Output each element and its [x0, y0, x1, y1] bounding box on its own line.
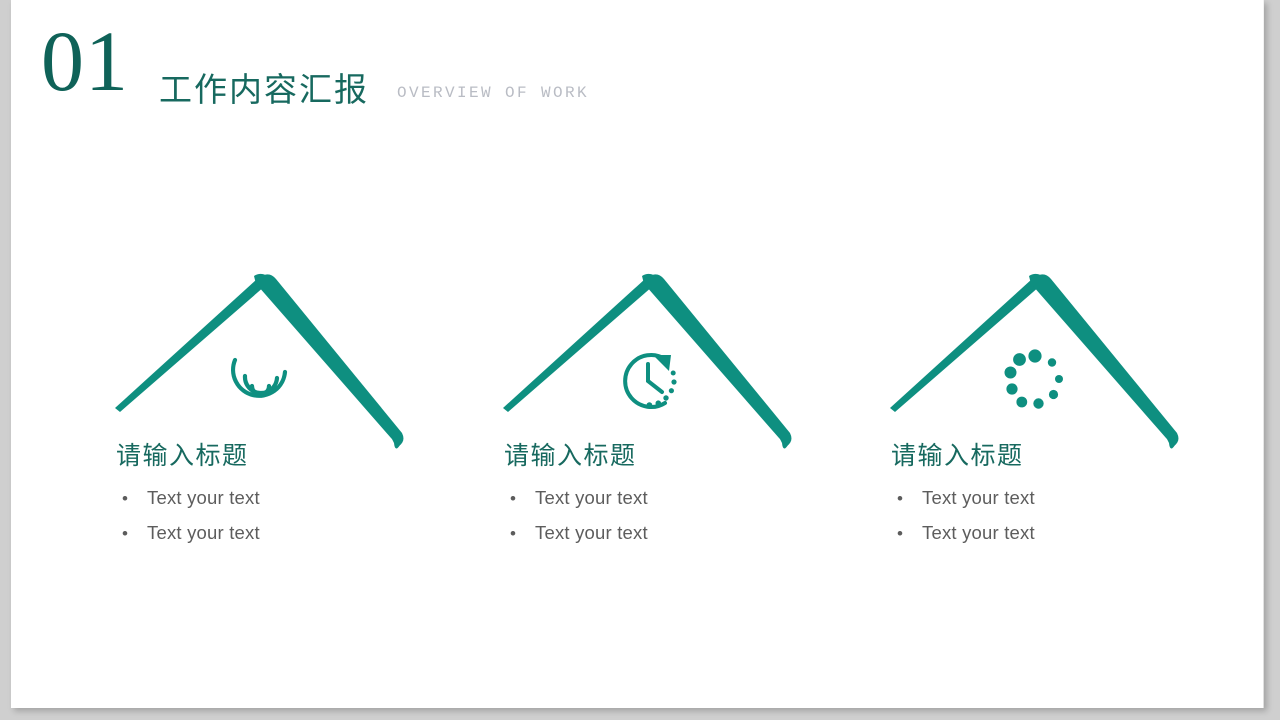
bullet-text: Text your text [535, 487, 648, 509]
column-bullet-list: • Text your text • Text your text [117, 487, 407, 557]
clock-history-icon [596, 341, 700, 421]
list-item[interactable]: • Text your text [892, 487, 1182, 522]
content-column-2[interactable]: 请输入标题 • Text your text • Text your text [483, 265, 813, 565]
bullet-text: Text your text [147, 487, 260, 509]
bullet-text: Text your text [147, 522, 260, 544]
column-bullet-list: • Text your text • Text your text [505, 487, 795, 557]
column-title: 请输入标题 [116, 443, 249, 471]
bullet-text: Text your text [922, 522, 1035, 544]
list-item[interactable]: • Text your text [117, 487, 407, 522]
slide-right-edge-rule [1263, 0, 1264, 708]
bullet-marker: • [117, 524, 147, 544]
bullet-marker: • [505, 489, 535, 509]
content-columns: 请输入标题 • Text your text • Text your text [11, 0, 1264, 708]
list-item[interactable]: • Text your text [892, 522, 1182, 557]
list-item[interactable]: • Text your text [117, 522, 407, 557]
ripple-arcs-icon [208, 341, 312, 421]
content-column-3[interactable]: 请输入标题 • Text your text • Text your text [870, 265, 1200, 565]
bullet-marker: • [117, 489, 147, 509]
slide-canvas: 01 工作内容汇报 OVERVIEW OF WORK [11, 0, 1264, 708]
bullet-text: Text your text [535, 522, 648, 544]
dotted-ring-spinner-icon [983, 341, 1087, 421]
bullet-marker: • [892, 489, 922, 509]
column-bullet-list: • Text your text • Text your text [892, 487, 1182, 557]
bullet-marker: • [892, 524, 922, 544]
list-item[interactable]: • Text your text [505, 487, 795, 522]
column-title: 请输入标题 [891, 443, 1024, 471]
list-item[interactable]: • Text your text [505, 522, 795, 557]
column-title: 请输入标题 [504, 443, 637, 471]
bullet-marker: • [505, 524, 535, 544]
bullet-text: Text your text [922, 487, 1035, 509]
content-column-1[interactable]: 请输入标题 • Text your text • Text your text [95, 265, 425, 565]
